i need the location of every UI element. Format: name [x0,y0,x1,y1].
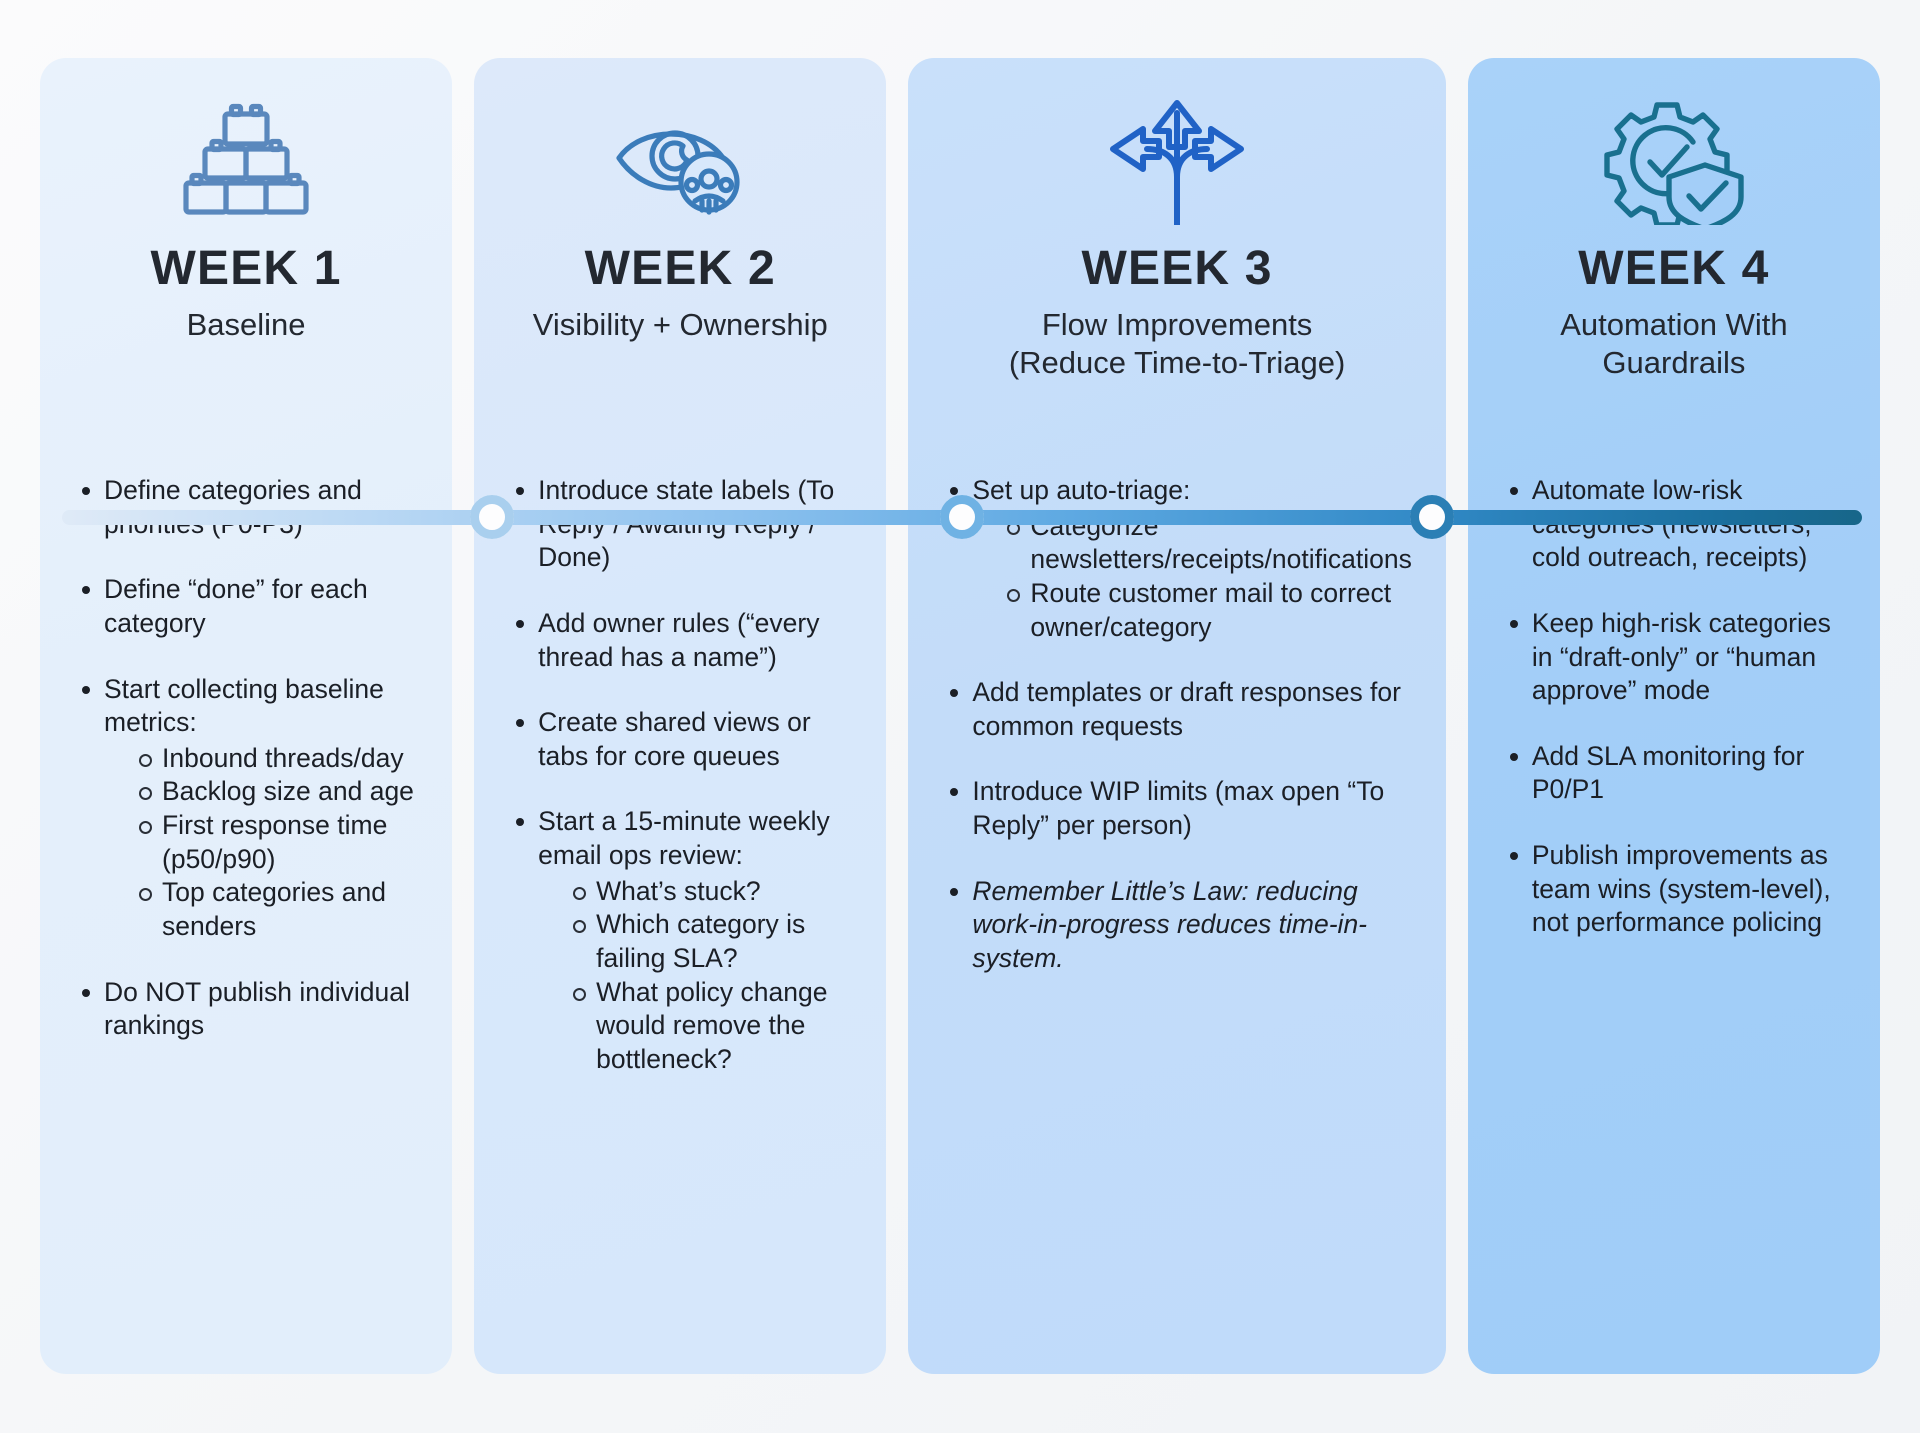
infographic-board: WEEK 1 Baseline Define categories and pr… [0,0,1920,1433]
bullet-text: Start a 15-minute weekly email ops revie… [538,806,830,870]
gear-check-shield-icon [1601,98,1747,226]
bullet-item: Add owner rules (“every thread has a nam… [508,607,852,674]
week-cards-row: WEEK 1 Baseline Define categories and pr… [40,58,1880,1374]
card-header-2: WEEK 2 Visibility + Ownership [474,58,886,418]
bullet-text: Set up auto-triage: [972,475,1190,505]
bullet-item: Introduce WIP limits (max open “To Reply… [942,775,1411,842]
week-card-3[interactable]: WEEK 3 Flow Improvements (Reduce Time-to… [908,58,1445,1374]
card-header-3: WEEK 3 Flow Improvements (Reduce Time-to… [908,58,1445,418]
sub-bullet-item: Which category is failing SLA? [566,908,852,975]
bullet-text: Start collecting baseline metrics: [104,674,384,738]
week-card-1[interactable]: WEEK 1 Baseline Define categories and pr… [40,58,452,1374]
bullet-item: Introduce state labels (To Reply / Await… [508,474,852,575]
bullet-list-4: Automate low-risk categories (newsletter… [1502,474,1846,940]
bullet-item: Add SLA monitoring for P0/P1 [1502,740,1846,807]
card-body-4: Automate low-risk categories (newsletter… [1468,418,1880,1374]
sub-bullet-item: Inbound threads/day [132,742,418,776]
card-header-4: WEEK 4 Automation With Guardrails [1468,58,1880,418]
bullet-item: Remember Little’s Law: reducing work-in-… [942,875,1411,976]
sub-bullet-item: Categorize newsletters/receipts/notifica… [1000,510,1411,577]
bullet-text: Automate low-risk categories (newsletter… [1532,475,1812,572]
bullet-text: Introduce WIP limits (max open “To Reply… [972,776,1384,840]
bullet-list-1: Define categories and priorities (P0-P3)… [74,474,418,1043]
bullet-list-3: Set up auto-triage:Categorize newsletter… [942,474,1411,976]
bullet-text: Introduce state labels (To Reply / Await… [538,475,834,572]
sub-bullet-list: What’s stuck?Which category is failing S… [538,875,852,1077]
bullet-item: Automate low-risk categories (newsletter… [1502,474,1846,575]
week-card-4[interactable]: WEEK 4 Automation With Guardrails Automa… [1468,58,1880,1374]
bullet-text: Add templates or draft responses for com… [972,677,1401,741]
card-body-3: Set up auto-triage:Categorize newsletter… [908,418,1445,1374]
card-body-1: Define categories and priorities (P0-P3)… [40,418,452,1374]
sub-bullet-item: Route customer mail to correct owner/cat… [1000,577,1411,644]
bullet-text: Add owner rules (“every thread has a nam… [538,608,819,672]
bullet-text: Define categories and priorities (P0-P3) [104,475,362,539]
bullet-list-2: Introduce state labels (To Reply / Await… [508,474,852,1077]
bullet-item: Define “done” for each category [74,573,418,640]
sub-bullet-list: Inbound threads/dayBacklog size and ageF… [104,742,418,944]
card-body-2: Introduce state labels (To Reply / Await… [474,418,886,1374]
sub-bullet-item: What’s stuck? [566,875,852,909]
week-title: WEEK 2 [585,244,776,294]
bullet-item: Keep high-risk categories in “draft-only… [1502,607,1846,708]
week-title: WEEK 4 [1578,244,1769,294]
bullet-item: Start a 15-minute weekly email ops revie… [508,805,852,1076]
bullet-text: Remember Little’s Law: reducing work-in-… [972,876,1367,973]
bullet-item: Define categories and priorities (P0-P3) [74,474,418,541]
week-subtitle: Flow Improvements (Reduce Time-to-Triage… [1007,306,1347,383]
sub-bullet-item: What policy change would remove the bott… [566,976,852,1077]
card-header-1: WEEK 1 Baseline [40,58,452,418]
bullet-text: Publish improvements as team wins (syste… [1532,840,1831,937]
sub-bullet-item: First response time (p50/p90) [132,809,418,876]
bullet-item: Add templates or draft responses for com… [942,676,1411,743]
bullet-item: Set up auto-triage:Categorize newsletter… [942,474,1411,644]
bullet-item: Publish improvements as team wins (syste… [1502,839,1846,940]
bullet-item: Do NOT publish individual rankings [74,976,418,1043]
bullet-item: Create shared views or tabs for core que… [508,706,852,773]
bullet-item: Start collecting baseline metrics:Inboun… [74,673,418,944]
three-way-arrow-icon [1107,98,1247,226]
bullet-text: Define “done” for each category [104,574,368,638]
week-title: WEEK 1 [150,244,341,294]
bullet-text: Add SLA monitoring for P0/P1 [1532,741,1805,805]
week-subtitle: Visibility + Ownership [533,306,828,344]
bullet-text: Create shared views or tabs for core que… [538,707,810,771]
sub-bullet-item: Backlog size and age [132,775,418,809]
bullet-text: Keep high-risk categories in “draft-only… [1532,608,1831,705]
week-subtitle: Baseline [187,306,306,344]
eye-with-people-badge-icon [605,98,755,226]
week-title: WEEK 3 [1081,244,1272,294]
week-card-2[interactable]: WEEK 2 Visibility + Ownership Introduce … [474,58,886,1374]
week-subtitle: Automation With Guardrails [1504,306,1844,383]
sub-bullet-list: Categorize newsletters/receipts/notifica… [972,510,1411,645]
bullet-text: Do NOT publish individual rankings [104,977,410,1041]
stacked-building-blocks-icon [171,98,321,226]
sub-bullet-item: Top categories and senders [132,876,418,943]
